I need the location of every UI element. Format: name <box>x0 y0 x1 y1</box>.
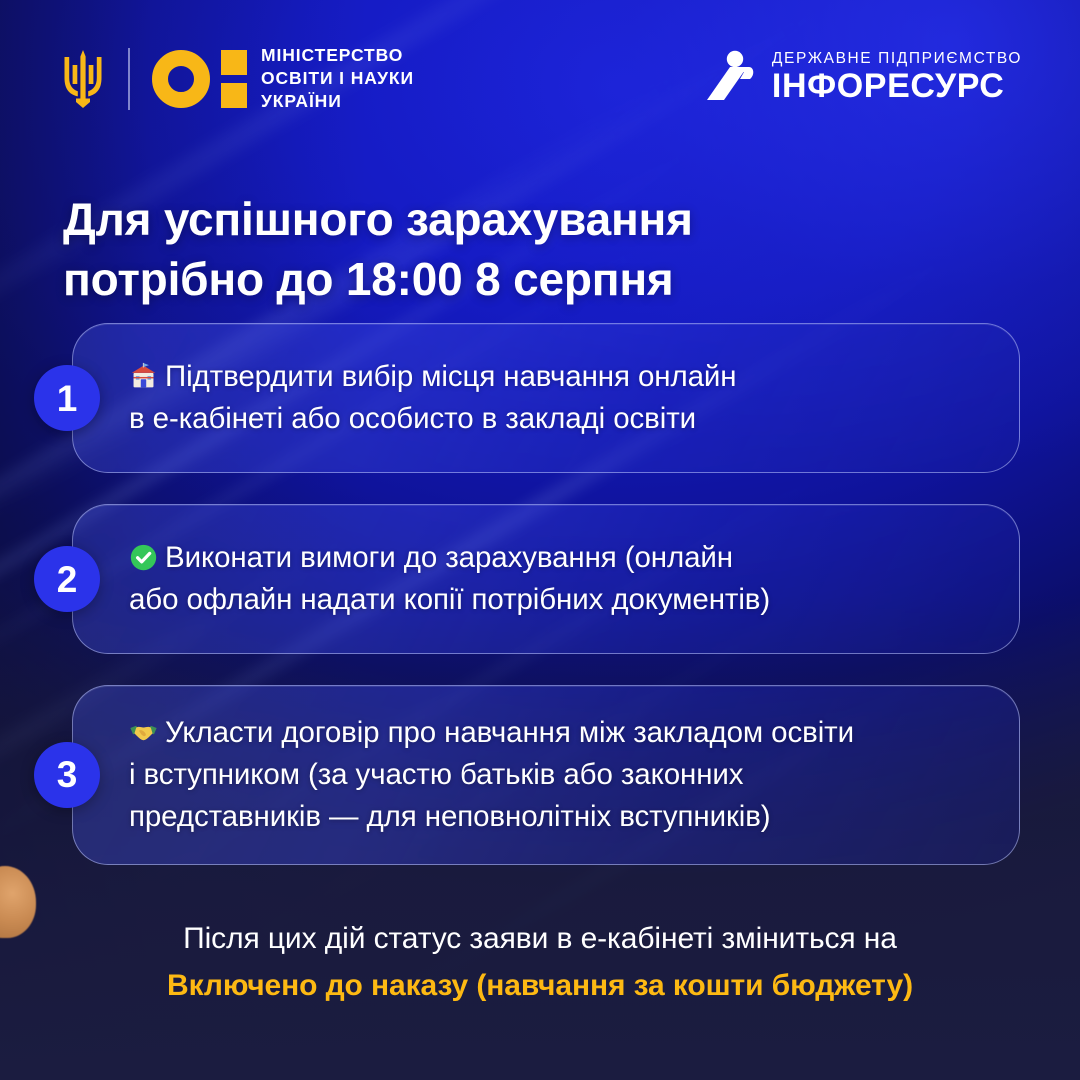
step-card-1: Підтвердити вибір місця навчання онлайн … <box>72 323 1020 473</box>
mon-text-line-2: ОСВІТИ І НАУКИ <box>261 67 414 90</box>
step-number-badge-1: 1 <box>34 365 100 431</box>
mon-o-mark-icon <box>152 50 247 108</box>
footer-status-highlight: Включено до наказу (навчання за кошти бю… <box>0 965 1080 1007</box>
step-text-3: Укласти договір про навчання між закладо… <box>129 712 854 838</box>
mon-squares-shape <box>221 50 247 108</box>
step-line-3c: представників — для неповнолітніх вступн… <box>129 796 854 838</box>
steps-list: 1 Підтвердити вибір місця на <box>0 323 1080 896</box>
inforesurs-title: ІНФОРЕСУРС <box>772 69 1022 105</box>
step-line-1b: в е-кабінеті або особисто в закладі осві… <box>129 398 736 440</box>
inforesurs-logo: ДЕРЖАВНЕ ПІДПРИЄМСТВО ІНФОРЕСУРС <box>700 48 1022 106</box>
header: МІНІСТЕРСТВО ОСВІТИ І НАУКИ УКРАЇНИ ДЕРЖ… <box>0 0 1080 150</box>
page-title: Для успішного зарахування потрібно до 18… <box>63 190 963 310</box>
page-title-line-1: Для успішного зарахування <box>63 190 963 250</box>
ukraine-trident-icon <box>60 48 106 110</box>
inforesurs-subtitle: ДЕРЖАВНЕ ПІДПРИЄМСТВО <box>772 50 1022 67</box>
step-item-2: 2 Виконати вимоги до зарахування (онлайн… <box>0 504 1080 654</box>
step-item-1: 1 Підтвердити вибір місця на <box>0 323 1080 473</box>
mon-ring-shape <box>152 50 210 108</box>
step-line-3b: і вступником (за участю батьків або зако… <box>129 754 854 796</box>
green-check-icon <box>129 543 158 572</box>
logo-divider <box>128 48 130 110</box>
inforesurs-mark-icon <box>700 48 758 106</box>
footer-text: Після цих дій статус заяви в е-кабінеті … <box>0 918 1080 960</box>
handshake-icon <box>129 718 158 747</box>
mon-text-line-3: УКРАЇНИ <box>261 90 414 113</box>
inforesurs-logo-text: ДЕРЖАВНЕ ПІДПРИЄМСТВО ІНФОРЕСУРС <box>772 50 1022 105</box>
step-line-2b: або офлайн надати копії потрібних докуме… <box>129 579 770 621</box>
step-card-3: Укласти договір про навчання між закладо… <box>72 685 1020 865</box>
step-line-2a: Виконати вимоги до зарахування (онлайн <box>129 537 770 579</box>
page-title-line-2: потрібно до 18:00 8 серпня <box>63 250 963 310</box>
step-text-1: Підтвердити вибір місця навчання онлайн … <box>129 356 736 440</box>
step-line-3a: Укласти договір про навчання між закладо… <box>129 712 854 754</box>
mon-logo-text: МІНІСТЕРСТВО ОСВІТИ І НАУКИ УКРАЇНИ <box>261 44 414 113</box>
mon-text-line-1: МІНІСТЕРСТВО <box>261 44 414 67</box>
school-building-icon <box>129 362 158 391</box>
step-number-badge-3: 3 <box>34 742 100 808</box>
step-card-2: Виконати вимоги до зарахування (онлайн а… <box>72 504 1020 654</box>
infographic-poster: МІНІСТЕРСТВО ОСВІТИ І НАУКИ УКРАЇНИ ДЕРЖ… <box>0 0 1080 1080</box>
step-text-2: Виконати вимоги до зарахування (онлайн а… <box>129 537 770 621</box>
step-item-3: 3 Укласти договір про навчання між закла… <box>0 685 1080 865</box>
footer: Після цих дій статус заяви в е-кабінеті … <box>0 918 1080 1007</box>
mon-logo: МІНІСТЕРСТВО ОСВІТИ І НАУКИ УКРАЇНИ <box>60 44 414 113</box>
step-line-1a: Підтвердити вибір місця навчання онлайн <box>129 356 736 398</box>
step-number-badge-2: 2 <box>34 546 100 612</box>
